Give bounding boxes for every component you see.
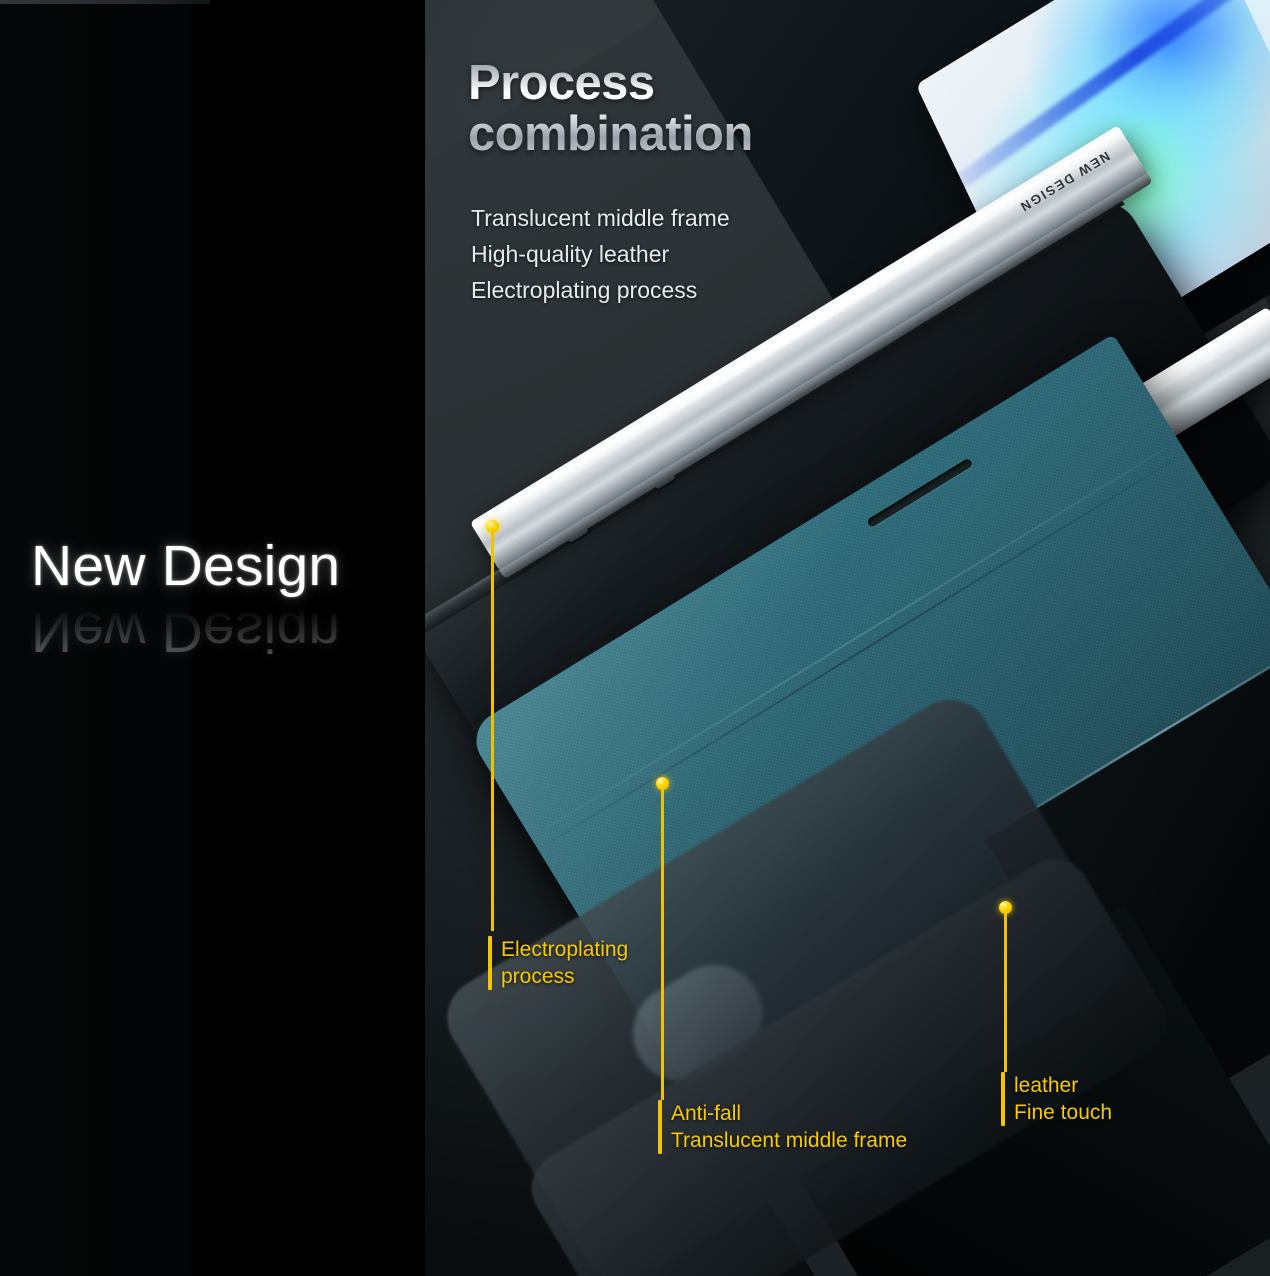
callout-bar-leather (1001, 1072, 1005, 1126)
callout-line-2: process (501, 963, 628, 990)
callout-dot-electroplating (486, 520, 499, 533)
callout-line-1: Anti-fall (671, 1100, 907, 1127)
callout-leader-anti-fall (661, 788, 664, 1100)
left-black-panel: New Design New Design (0, 0, 425, 1276)
callout-line-1: leather (1014, 1072, 1112, 1099)
callout-line-2: Translucent middle frame (671, 1127, 907, 1154)
page-title: Process combination (468, 58, 753, 160)
brand-title-reflection: New Design (31, 603, 340, 660)
product-photo: NEW DESIGN (425, 0, 1270, 1276)
callout-leader-leather (1004, 912, 1007, 1072)
callout-electroplating: Electroplating process (488, 936, 628, 990)
callout-text-electroplating: Electroplating process (501, 936, 628, 990)
callout-bar-anti-fall (658, 1100, 662, 1154)
callout-text-leather: leather Fine touch (1014, 1072, 1112, 1126)
feature-item-2: High-quality leather (471, 236, 730, 272)
brand-title: New Design (31, 538, 340, 595)
callout-leather: leather Fine touch (1001, 1072, 1112, 1126)
callout-line-1: Electroplating (501, 936, 628, 963)
top-edge-strip (0, 0, 210, 4)
feature-list: Translucent middle frame High-quality le… (471, 200, 730, 308)
callout-dot-anti-fall (656, 777, 669, 790)
callout-dot-leather (999, 901, 1012, 914)
product-banner: New Design New Design NEW DESIGN (0, 0, 1270, 1276)
callout-text-anti-fall: Anti-fall Translucent middle frame (671, 1100, 907, 1154)
screen-bezel (1202, 0, 1270, 200)
callout-anti-fall: Anti-fall Translucent middle frame (658, 1100, 907, 1154)
callout-bar-electroplating (488, 936, 492, 990)
callout-line-2: Fine touch (1014, 1099, 1112, 1126)
callout-leader-electroplating (491, 531, 494, 931)
feature-item-1: Translucent middle frame (471, 200, 730, 236)
feature-item-3: Electroplating process (471, 272, 730, 308)
